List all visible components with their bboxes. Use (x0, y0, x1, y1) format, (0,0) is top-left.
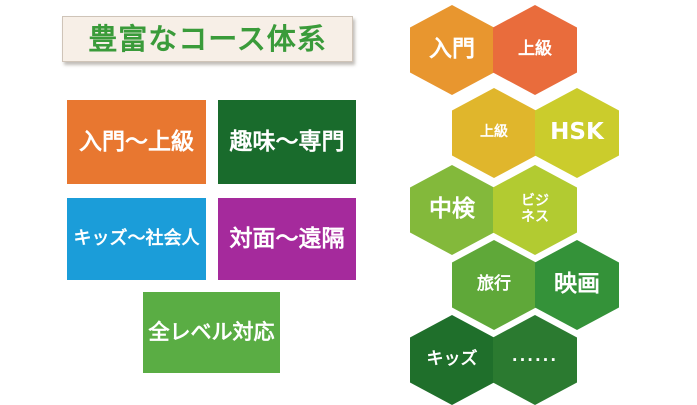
hexagon-hsk[interactable]: HSK (535, 88, 619, 178)
hexagon-label: キッズ (421, 350, 484, 369)
hexagon-label: 映画 (548, 272, 606, 298)
hexagon-ryoko[interactable]: 旅行 (452, 240, 536, 330)
hexagon-label: ビジネス (515, 194, 555, 225)
tag-label: 趣味～専門 (230, 131, 345, 154)
hexagon-nyumon[interactable]: 入門 (410, 5, 494, 95)
hexagon-label: 中検 (423, 197, 481, 223)
tag-label: 対面～遠隔 (230, 228, 345, 251)
hexagon-etc[interactable]: ······ (493, 315, 577, 405)
course-tags-panel: 豊富なコース体系 入門～上級 趣味～専門 キッズ～社会人 対面～遠隔 全レベル対… (0, 0, 390, 400)
hexagon-kids[interactable]: キッズ (410, 315, 494, 405)
hexagon-eiga[interactable]: 映画 (535, 240, 619, 330)
tag-label: 入門～上級 (79, 131, 194, 154)
hexagon-joukyu-1[interactable]: 上級 (493, 5, 577, 95)
hexagon-label: 上級 (512, 40, 558, 59)
page-title-banner: 豊富なコース体系 (62, 16, 353, 62)
tag-box-nyumon-joukyu[interactable]: 入門～上級 (67, 100, 206, 184)
tag-box-kids-shakaijin[interactable]: キッズ～社会人 (67, 198, 206, 280)
hexagon-label: 上級 (474, 125, 514, 141)
tag-box-shumi-senmon[interactable]: 趣味～専門 (218, 100, 356, 184)
hexagon-label: 入門 (423, 37, 481, 63)
hexagon-joukyu-2[interactable]: 上級 (452, 88, 536, 178)
hexagon-label: 旅行 (471, 275, 517, 294)
hexagon-business[interactable]: ビジネス (493, 165, 577, 255)
hexagon-label: ······ (506, 352, 564, 369)
tag-label: 全レベル対応 (149, 322, 275, 343)
tag-box-zen-level[interactable]: 全レベル対応 (143, 292, 280, 373)
hexagon-label: HSK (544, 120, 610, 146)
tag-label: キッズ～社会人 (74, 230, 200, 248)
course-hexagon-panel: 入門上級上級HSK中検ビジネス旅行映画キッズ······ (390, 0, 697, 400)
hexagon-chuken[interactable]: 中検 (410, 165, 494, 255)
tag-box-taimen-enkaku[interactable]: 対面～遠隔 (218, 198, 356, 280)
page-title: 豊富なコース体系 (88, 25, 327, 54)
slide-canvas: 豊富なコース体系 入門～上級 趣味～専門 キッズ～社会人 対面～遠隔 全レベル対… (0, 0, 697, 400)
